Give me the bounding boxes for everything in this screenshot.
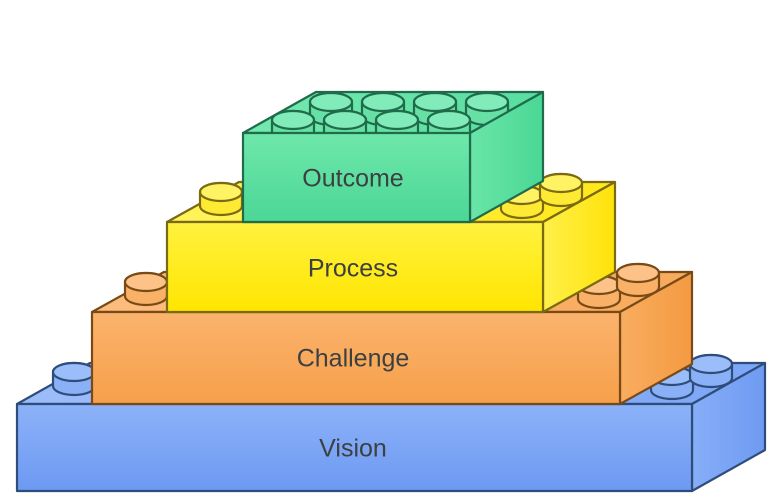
brick-vision-stud-left-1	[53, 363, 95, 395]
diagram-canvas: Vision Challenge	[0, 0, 775, 502]
brick-process-stud-right-2	[540, 174, 582, 206]
brick-process-label: Process	[308, 255, 398, 283]
brick-process-stud-left-1	[200, 183, 242, 215]
brick-challenge-stud-right-2	[617, 264, 659, 296]
brick-challenge-stud-left-1	[125, 273, 167, 305]
brick-vision-stud-right-2	[690, 355, 732, 387]
brick-outcome[interactable]: Outcome	[243, 92, 543, 222]
brick-challenge-label: Challenge	[297, 345, 410, 373]
brick-vision-label: Vision	[319, 435, 387, 463]
brick-outcome-label: Outcome	[302, 165, 403, 193]
lego-pyramid-diagram: Vision Challenge	[0, 0, 775, 502]
